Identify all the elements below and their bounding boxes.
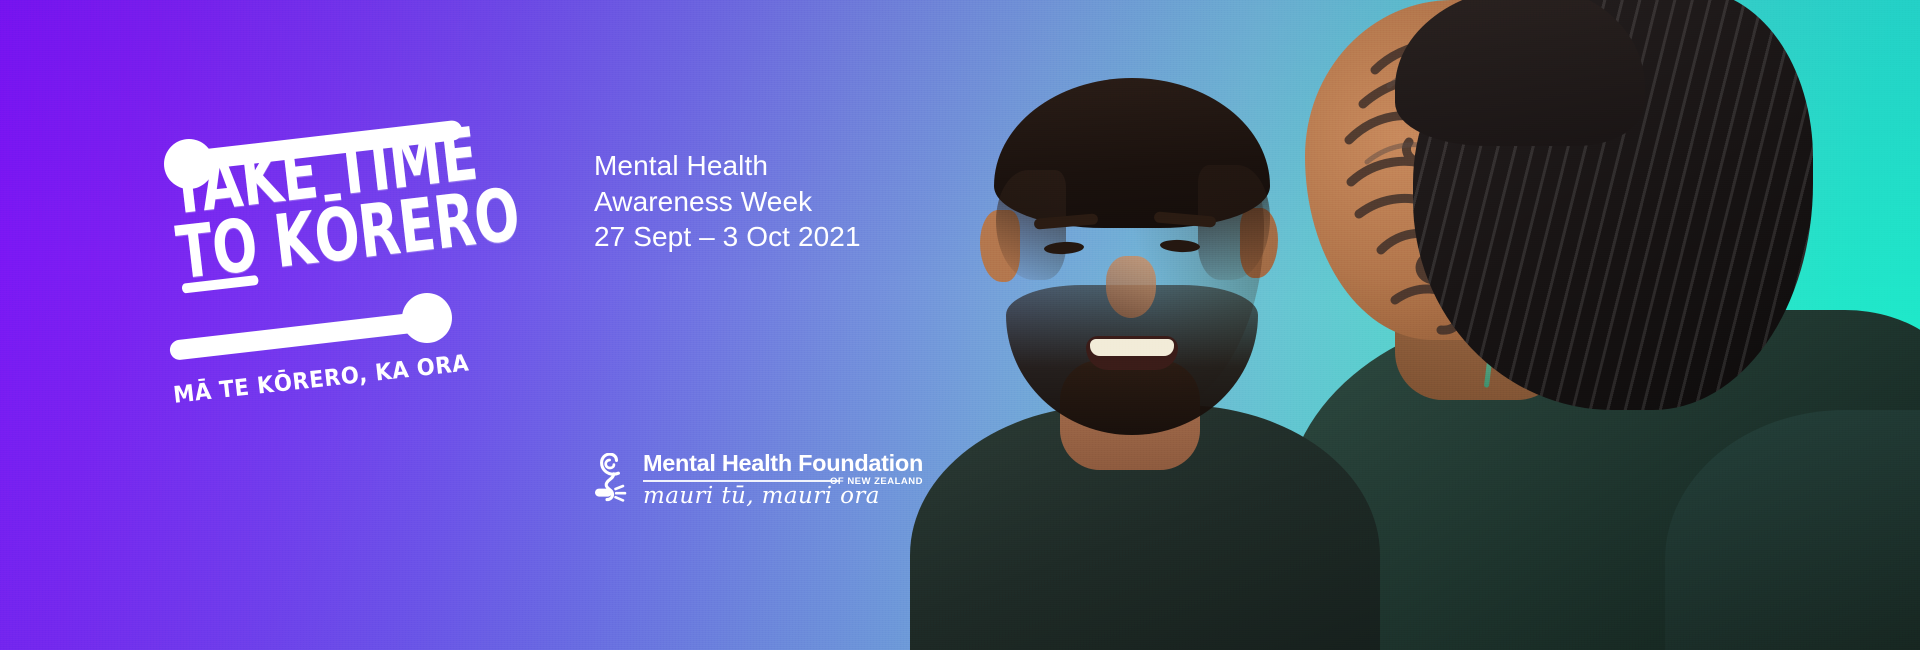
event-details: Mental Health Awareness Week 27 Sept – 3… — [594, 148, 861, 255]
campaign-tagline-text: MĀ TE KŌRERO, KA ORA — [172, 350, 470, 408]
campaign-tagline: MĀ TE KŌRERO, KA ORA — [172, 348, 496, 409]
headline-to-word: TO — [174, 213, 261, 287]
mhf-subtitle: OF NEW ZEALAND — [830, 477, 923, 487]
mhf-motto: mauri tū, mauri ora — [643, 484, 923, 508]
event-line-3: 27 Sept – 3 Oct 2021 — [594, 219, 861, 255]
mhf-wordmark: Mental Health Foundation OF NEW ZEALAND … — [643, 452, 923, 508]
mhaw-campaign-banner: TAKE TIME TO KŌRERO MĀ TE KŌRERO, KA ORA… — [0, 0, 1920, 650]
koru-spiral-icon — [594, 453, 634, 510]
mhf-divider — [643, 480, 839, 482]
lockup-bottom-cap — [402, 293, 452, 343]
event-line-1: Mental Health — [594, 148, 861, 184]
koru-svg — [594, 453, 634, 505]
campaign-headline: TAKE TIME TO KŌRERO — [166, 108, 607, 281]
mhf-name: Mental Health Foundation — [643, 450, 923, 476]
lockup-bottom-rule — [169, 310, 438, 361]
mental-health-foundation-logo: Mental Health Foundation OF NEW ZEALAND … — [594, 452, 923, 510]
campaign-lockup: TAKE TIME TO KŌRERO MĀ TE KŌRERO, KA ORA — [150, 95, 570, 455]
event-line-2: Awareness Week — [594, 184, 861, 220]
